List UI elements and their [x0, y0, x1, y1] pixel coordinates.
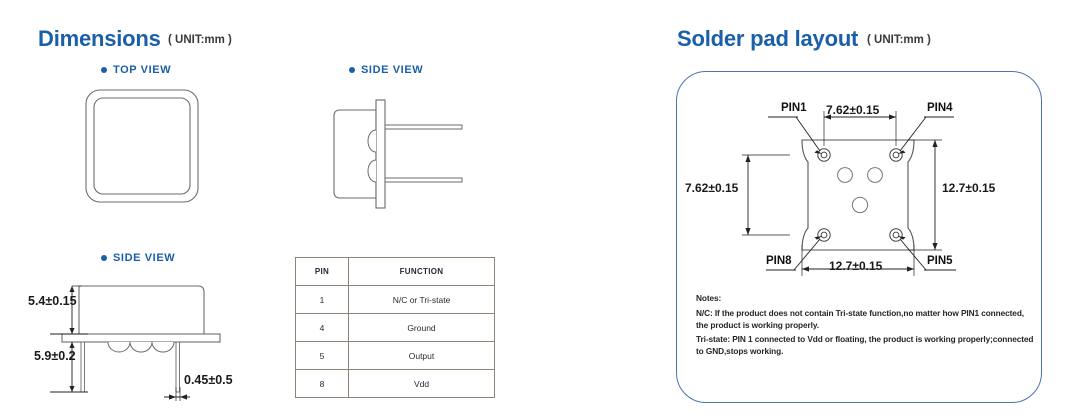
cell-function: N/C or Tri-state [349, 286, 495, 314]
dim-body-height: 5.4±0.15 [28, 294, 77, 308]
table-row: 1 N/C or Tri-state [296, 286, 495, 314]
table-row: 5 Output [296, 342, 495, 370]
cell-function: Vdd [349, 370, 495, 398]
pin-function-table: PIN FUNCTION 1 N/C or Tri-state 4 Ground… [295, 257, 495, 398]
dimensions-unit-label: ( UNIT:mm ) [168, 34, 232, 46]
dimensions-title: Dimensions [38, 26, 161, 52]
pin8-label: PIN8 [766, 255, 792, 267]
side-view-top-drawing [330, 86, 470, 206]
dim-right-vertical: 12.7±0.15 [942, 181, 995, 195]
cell-function: Output [349, 342, 495, 370]
cell-pin: 8 [296, 370, 349, 398]
dim-bottom-horizontal: 12.7±0.15 [829, 259, 882, 273]
dim-lead-height: 5.9±0.2 [34, 349, 76, 363]
bullet-icon-side-view-bottom [101, 255, 107, 261]
cell-pin: 4 [296, 314, 349, 342]
top-view-label: TOP VIEW [113, 64, 171, 76]
side-view-bottom-label: SIDE VIEW [113, 252, 175, 264]
column-header-function: FUNCTION [349, 258, 495, 286]
solder-pad-panel: Solder pad layout ( UNIT:mm ) [650, 0, 1080, 420]
column-header-pin: PIN [296, 258, 349, 286]
pin4-label: PIN4 [927, 102, 953, 114]
table-row: 4 Ground [296, 314, 495, 342]
table-row: 8 Vdd [296, 370, 495, 398]
solder-pad-title: Solder pad layout [677, 26, 858, 52]
bullet-icon-side-view-top [349, 67, 355, 73]
notes-line-nc: N/C: If the product does not contain Tri… [696, 308, 1036, 331]
notes-line-tristate: Tri-state: PIN 1 connected to Vdd or flo… [696, 334, 1041, 357]
notes-heading: Notes: [696, 293, 721, 305]
side-view-top-label: SIDE VIEW [361, 64, 423, 76]
dim-top-horizontal: 7.62±0.15 [826, 103, 879, 117]
top-view-drawing [80, 86, 210, 211]
solder-pad-unit-label: ( UNIT:mm ) [867, 34, 931, 46]
bullet-icon-top-view [101, 67, 107, 73]
cell-function: Ground [349, 314, 495, 342]
cell-pin: 1 [296, 286, 349, 314]
dimensions-panel: Dimensions ( UNIT:mm ) TOP VIEW SIDE VIE… [0, 0, 650, 420]
dim-lead-width: 0.45±0.5 [184, 373, 233, 387]
dim-left-vertical: 7.62±0.15 [685, 181, 738, 195]
pin1-label: PIN1 [781, 102, 807, 114]
table-header-row: PIN FUNCTION [296, 258, 495, 286]
pin5-label: PIN5 [927, 255, 953, 267]
cell-pin: 5 [296, 342, 349, 370]
